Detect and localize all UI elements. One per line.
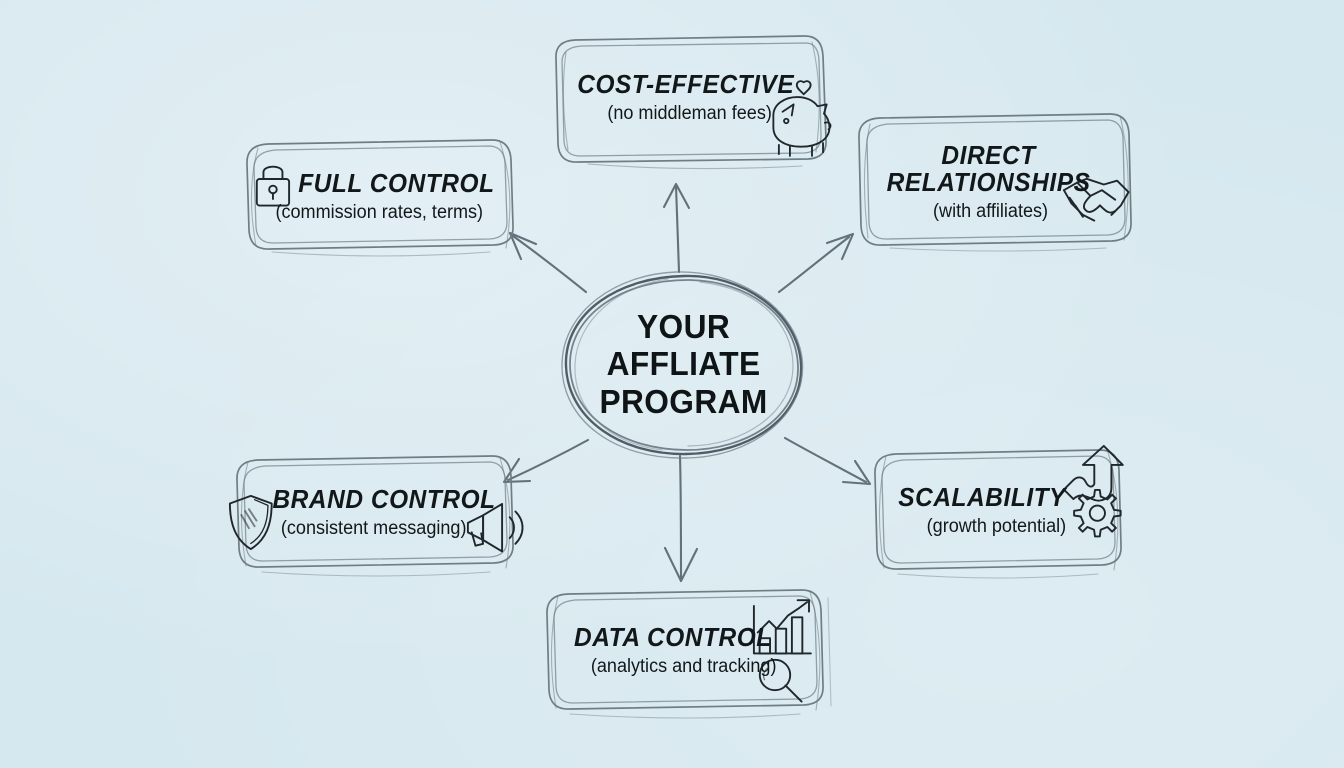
node-full-control-title: FULL CONTROL [264,170,494,197]
node-cost-effective[interactable]: COST-EFFECTIVE (no middleman fees) [556,38,824,158]
node-scalability-title: SCALABILITY [898,484,1094,511]
node-data-control-subtitle: (analytics and tracking) [591,656,777,678]
node-brand-control-subtitle: (consistent messaging) [281,518,467,540]
node-data-control-title: DATA CONTROL [574,624,794,651]
center-node[interactable]: YOUR AFFLIATE PROGRAM [566,276,802,452]
node-brand-control-title: BRAND CONTROL [252,486,496,513]
node-full-control-subtitle: (commission rates, terms) [275,202,483,224]
node-full-control[interactable]: FULL CONTROL (commission rates, terms) [248,142,510,252]
node-data-control[interactable]: DATA CONTROL (analytics and tracking) [548,592,820,710]
node-direct-relationships-title: DIRECT RELATIONSHIPS [886,142,1095,196]
center-node-label: YOUR AFFLIATE PROGRAM [600,308,768,420]
node-cost-effective-subtitle: (no middleman fees) [608,103,773,125]
diagram-canvas: YOUR AFFLIATE PROGRAM COST-EFFECTIVE (no… [0,0,1344,768]
node-scalability-subtitle: (growth potential) [926,516,1065,538]
node-direct-relationships-subtitle: (with affiliates) [933,201,1048,223]
node-direct-relationships[interactable]: DIRECT RELATIONSHIPS (with affiliates) [860,118,1122,246]
node-brand-control[interactable]: BRAND CONTROL (consistent messaging) [238,458,510,568]
node-scalability[interactable]: SCALABILITY (growth potential) [876,452,1116,570]
node-cost-effective-title: COST-EFFECTIVE [577,71,803,98]
